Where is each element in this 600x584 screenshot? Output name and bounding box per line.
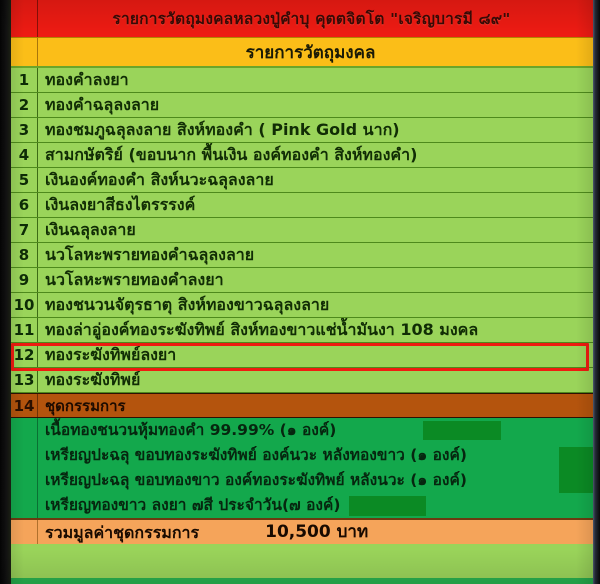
header-row-gutter (11, 38, 38, 66)
row-item-name: นวโลหะพรายทองคำลงยา (38, 268, 593, 292)
row-item-name: ทองคำฉลุลงลาย (38, 93, 593, 117)
table-row[interactable]: 3 ทองชมภูฉลุลงลาย สิงห์ทองคำ ( Pink Gold… (11, 118, 593, 143)
table-row[interactable]: 1 ทองคำลงยา (11, 68, 593, 93)
row-number: 11 (11, 318, 38, 342)
table-row[interactable]: 10 ทองชนวนจัตุรธาตุ สิงห์ทองขาวฉลุลงลาย (11, 293, 593, 318)
committee-set-contents: เนื้อทองชนวนหุ้มทองคำ 99.99% (๑ องค์) เห… (11, 418, 593, 518)
row-item-name: ทองชมภูฉลุลงลาย สิงห์ทองคำ ( Pink Gold น… (38, 118, 593, 142)
sub-item-name: เนื้อทองชนวนหุ้มทองคำ 99.99% (๑ องค์) (38, 418, 593, 443)
sub-item-name: เหรียญปะฉลุ ขอบทองขาว องค์ทองระฆังทิพย์ … (38, 468, 593, 493)
row-item-name: เงินฉลุลงลาย (38, 218, 593, 242)
photo-right-edge (593, 0, 600, 584)
table-row[interactable]: 2 ทองคำฉลุลงลาย (11, 93, 593, 118)
sub-row-gutter (11, 443, 38, 468)
sub-item-text: เหรียญปะฉลุ ขอบทองขาว องค์ทองระฆังทิพย์ … (45, 471, 467, 489)
sub-item-row[interactable]: เหรียญปะฉลุ ขอบทองขาว องค์ทองระฆังทิพย์ … (11, 468, 593, 493)
total-label: รวมมูลค่าชุดกรรมการ (45, 520, 199, 544)
sub-item-row[interactable]: เนื้อทองชนวนหุ้มทองคำ 99.99% (๑ องค์) (11, 418, 593, 443)
row-number: 14 (11, 394, 38, 417)
table-row[interactable]: 9 นวโลหะพรายทองคำลงยา (11, 268, 593, 293)
row-number: 13 (11, 368, 38, 392)
title-row-gutter (11, 0, 38, 37)
sub-item-text: เหรียญทองขาว ลงยา ๗สี ประจำวัน(๗ องค์) (45, 496, 340, 514)
sub-item-text: เหรียญปะฉลุ ขอบทองระฆังทิพย์ องค์นวะ หลั… (45, 446, 467, 464)
sub-item-row[interactable]: เหรียญทองขาว ลงยา ๗สี ประจำวัน(๗ องค์) (11, 493, 593, 518)
sub-item-name: เหรียญทองขาว ลงยา ๗สี ประจำวัน(๗ องค์) (38, 493, 593, 518)
column-header-label: รายการวัตถุมงคล (38, 39, 593, 66)
table-row[interactable]: 7 เงินฉลุลงลาย (11, 218, 593, 243)
price-list-table: รายการวัตถุมงคลหลวงปู่คำบุ คุตตจิตโต "เจ… (11, 0, 593, 584)
screenshot-canvas: รายการวัตถุมงคลหลวงปู่คำบุ คุตตจิตโต "เจ… (0, 0, 600, 584)
sub-item-row[interactable]: เหรียญปะฉลุ ขอบทองระฆังทิพย์ องค์นวะ หลั… (11, 443, 593, 468)
row-number: 8 (11, 243, 38, 267)
table-row[interactable]: 6 เงินลงยาสีธงไตรรรงค์ (11, 193, 593, 218)
table-category-row[interactable]: 14 ชุดกรรมการ (11, 393, 593, 418)
sub-item-name: เหรียญปะฉลุ ขอบทองระฆังทิพย์ องค์นวะ หลั… (38, 443, 593, 468)
table-bottom-edge (11, 578, 593, 584)
redaction-block (423, 421, 501, 440)
table-row[interactable]: 12 ทองระฆังทิพย์ลงยา (11, 343, 593, 368)
row-number: 10 (11, 293, 38, 317)
row-number: 9 (11, 268, 38, 292)
row-item-name: เงินองค์ทองคำ สิงห์นวะฉลุลงลาย (38, 168, 593, 192)
row-number: 2 (11, 93, 38, 117)
total-cell: รวมมูลค่าชุดกรรมการ 10,500 บาท (38, 520, 593, 544)
page-title: รายการวัตถุมงคลหลวงปู่คำบุ คุตตจิตโต "เจ… (38, 6, 593, 31)
table-header-row: รายการวัตถุมงคล (11, 38, 593, 68)
table-row-highlighted[interactable]: 11 ทองล่าอู่องค์ทองระฆังทิพย์ สิงห์ทองขา… (11, 318, 593, 343)
redaction-block (349, 496, 426, 516)
row-item-name: ทองระฆังทิพย์ลงยา (38, 343, 593, 367)
row-item-name: ทองล่าอู่องค์ทองระฆังทิพย์ สิงห์ทองขาวแช… (38, 318, 593, 342)
row-item-name: ทองคำลงยา (38, 68, 593, 92)
category-name: ชุดกรรมการ (38, 394, 593, 417)
row-number: 7 (11, 218, 38, 242)
total-amount: 10,500 บาท (265, 520, 368, 544)
table-title-row: รายการวัตถุมงคลหลวงปู่คำบุ คุตตจิตโต "เจ… (11, 0, 593, 38)
row-number: 1 (11, 68, 38, 92)
table-row[interactable]: 5 เงินองค์ทองคำ สิงห์นวะฉลุลงลาย (11, 168, 593, 193)
row-number: 3 (11, 118, 38, 142)
table-row[interactable]: 13 ทองระฆังทิพย์ (11, 368, 593, 393)
row-item-name: นวโลหะพรายทองคำฉลุลงลาย (38, 243, 593, 267)
sub-row-gutter (11, 493, 38, 518)
row-item-name: ทองชนวนจัตุรธาตุ สิงห์ทองขาวฉลุลงลาย (38, 293, 593, 317)
redaction-block (559, 468, 593, 493)
row-number: 4 (11, 143, 38, 167)
row-number: 5 (11, 168, 38, 192)
photo-left-edge (0, 0, 11, 584)
total-row-gutter (11, 520, 38, 544)
row-item-name: สามกษัตริย์ (ขอบนาก พื้นเงิน องค์ทองคำ ส… (38, 143, 593, 167)
row-item-name: ทองระฆังทิพย์ (38, 368, 593, 392)
table-row[interactable]: 8 นวโลหะพรายทองคำฉลุลงลาย (11, 243, 593, 268)
redaction-block (559, 447, 593, 468)
sub-row-gutter (11, 468, 38, 493)
table-total-row: รวมมูลค่าชุดกรรมการ 10,500 บาท (11, 518, 593, 544)
row-item-name: เงินลงยาสีธงไตรรรงค์ (38, 193, 593, 217)
sub-row-gutter (11, 418, 38, 443)
row-number: 12 (11, 343, 38, 367)
row-number: 6 (11, 193, 38, 217)
sub-item-text: เนื้อทองชนวนหุ้มทองคำ 99.99% (๑ องค์) (45, 421, 336, 439)
table-row[interactable]: 4 สามกษัตริย์ (ขอบนาก พื้นเงิน องค์ทองคำ… (11, 143, 593, 168)
